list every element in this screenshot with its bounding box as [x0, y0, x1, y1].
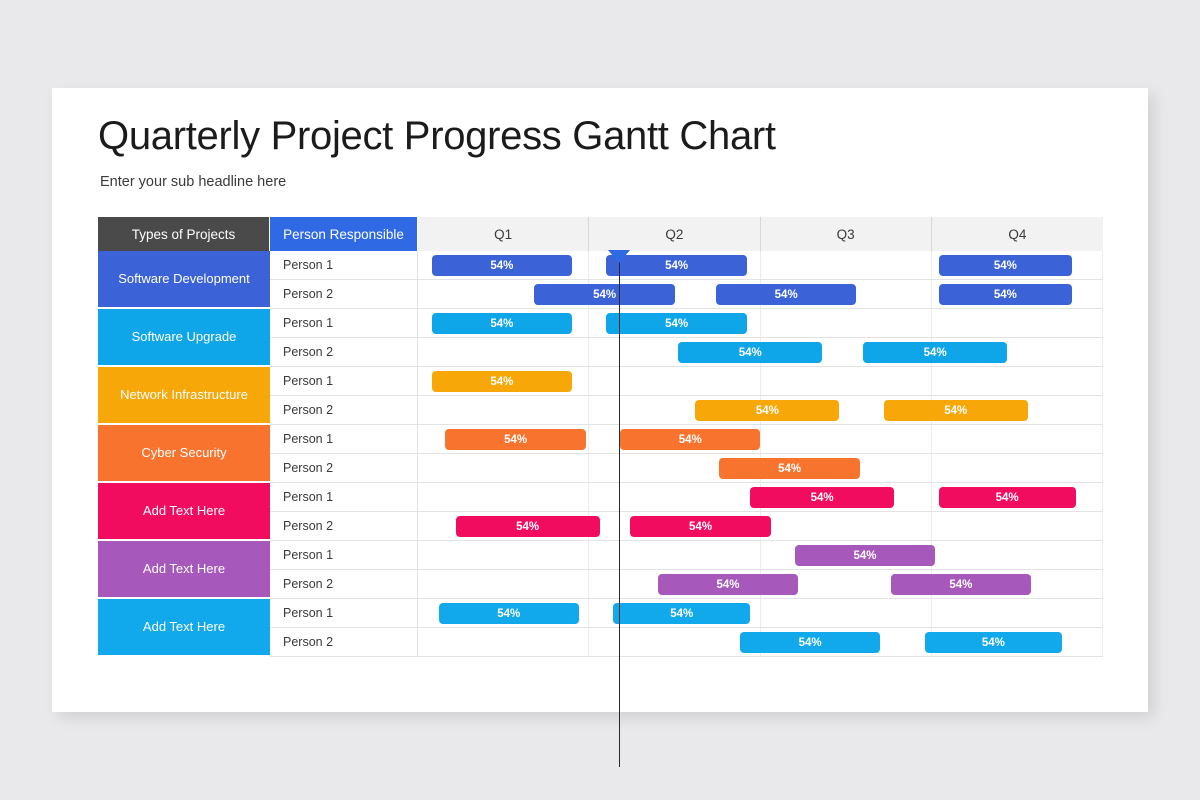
quarter-cell-q1: [418, 628, 589, 656]
person-responsible-cell[interactable]: Person 1: [270, 425, 418, 453]
today-marker-line: [619, 251, 620, 767]
gantt-bar[interactable]: 54%: [891, 574, 1031, 595]
slide-card: Quarterly Project Progress Gantt Chart E…: [52, 88, 1148, 712]
gantt-track: 54%54%: [418, 309, 1103, 337]
gantt-track: 54%54%: [418, 599, 1103, 627]
quarter-cell-q1: [418, 454, 589, 482]
gantt-group-rows: Person 154%Person 254%54%: [270, 367, 1103, 425]
gantt-group: Software DevelopmentPerson 154%54%54%Per…: [98, 251, 1103, 309]
quarter-cell-q1: [418, 541, 589, 569]
gantt-bar[interactable]: 54%: [740, 632, 880, 653]
table-row: Person 154%54%: [270, 483, 1103, 512]
gantt-bar[interactable]: 54%: [795, 545, 935, 566]
gantt-group-rows: Person 154%54%Person 254%54%: [270, 309, 1103, 367]
gantt-group-rows: Person 154%54%Person 254%: [270, 425, 1103, 483]
gantt-bar[interactable]: 54%: [613, 603, 750, 624]
quarter-cell-q4: [932, 541, 1103, 569]
gantt-bar[interactable]: 54%: [620, 429, 760, 450]
gantt-track: 54%54%: [418, 425, 1103, 453]
quarter-cell-q1: [418, 396, 589, 424]
gantt-body: Software DevelopmentPerson 154%54%54%Per…: [98, 251, 1103, 657]
gantt-track: 54%: [418, 454, 1103, 482]
gantt-bar[interactable]: 54%: [716, 284, 856, 305]
gantt-bar[interactable]: 54%: [695, 400, 839, 421]
person-responsible-cell[interactable]: Person 1: [270, 367, 418, 395]
table-header-row: Types of Projects Person Responsible Q1 …: [98, 217, 1103, 251]
quarter-cell-q4: [932, 512, 1103, 540]
gantt-bar[interactable]: 54%: [439, 603, 579, 624]
gantt-track: 54%54%: [418, 338, 1103, 366]
person-responsible-cell[interactable]: Person 1: [270, 251, 418, 279]
quarter-cell-q3: [761, 425, 932, 453]
table-row: Person 254%: [270, 454, 1103, 483]
header-person-responsible: Person Responsible: [270, 217, 418, 251]
header-quarter-q3: Q3: [761, 217, 932, 251]
quarter-cell-q1: [418, 338, 589, 366]
gantt-group-rows: Person 154%54%Person 254%54%: [270, 483, 1103, 541]
person-responsible-cell[interactable]: Person 2: [270, 396, 418, 424]
gantt-bar[interactable]: 54%: [445, 429, 585, 450]
table-row: Person 254%54%: [270, 570, 1103, 599]
table-row: Person 154%: [270, 367, 1103, 396]
gantt-bar[interactable]: 54%: [658, 574, 798, 595]
gantt-track: 54%: [418, 367, 1103, 395]
gantt-group-rows: Person 154%54%54%Person 254%54%54%: [270, 251, 1103, 309]
project-category-label[interactable]: Software Upgrade: [98, 309, 270, 365]
table-row: Person 154%: [270, 541, 1103, 570]
gantt-bar[interactable]: 54%: [432, 313, 572, 334]
person-responsible-cell[interactable]: Person 2: [270, 570, 418, 598]
person-responsible-cell[interactable]: Person 1: [270, 483, 418, 511]
quarter-cell-q2: [589, 628, 760, 656]
table-row: Person 254%54%: [270, 628, 1103, 657]
project-category-label[interactable]: Software Development: [98, 251, 270, 307]
gantt-group: Add Text HerePerson 154%Person 254%54%: [98, 541, 1103, 599]
gantt-bar[interactable]: 54%: [750, 487, 894, 508]
quarter-cell-q4: [932, 367, 1103, 395]
project-category-label[interactable]: Add Text Here: [98, 599, 270, 655]
quarter-cell-q3: [761, 367, 932, 395]
person-responsible-cell[interactable]: Person 1: [270, 599, 418, 627]
quarter-cell-q4: [932, 309, 1103, 337]
page-subtitle: Enter your sub headline here: [100, 174, 286, 190]
gantt-bar[interactable]: 54%: [884, 400, 1028, 421]
gantt-bar[interactable]: 54%: [534, 284, 674, 305]
gantt-track: 54%54%54%: [418, 251, 1103, 279]
gantt-bar[interactable]: 54%: [456, 516, 600, 537]
quarter-cell-q3: [761, 599, 932, 627]
gantt-track: 54%54%54%: [418, 280, 1103, 308]
quarter-cell-q2: [589, 367, 760, 395]
person-responsible-cell[interactable]: Person 2: [270, 338, 418, 366]
project-category-label[interactable]: Network Infrastructure: [98, 367, 270, 423]
project-category-label[interactable]: Add Text Here: [98, 483, 270, 539]
gantt-bar[interactable]: 54%: [432, 371, 572, 392]
gantt-track: 54%54%: [418, 512, 1103, 540]
gantt-bar[interactable]: 54%: [630, 516, 770, 537]
page-title: Quarterly Project Progress Gantt Chart: [98, 114, 776, 159]
gantt-bar[interactable]: 54%: [939, 284, 1073, 305]
quarter-cell-q4: [932, 425, 1103, 453]
quarter-cell-q4: [932, 454, 1103, 482]
gantt-bar[interactable]: 54%: [606, 313, 746, 334]
person-responsible-cell[interactable]: Person 2: [270, 628, 418, 656]
table-row: Person 254%54%: [270, 338, 1103, 367]
header-types-of-projects: Types of Projects: [98, 217, 270, 251]
table-row: Person 154%54%: [270, 309, 1103, 338]
gantt-track: 54%54%: [418, 483, 1103, 511]
table-row: Person 254%54%: [270, 512, 1103, 541]
gantt-bar[interactable]: 54%: [719, 458, 859, 479]
project-category-label[interactable]: Cyber Security: [98, 425, 270, 481]
gantt-bar[interactable]: 54%: [939, 487, 1076, 508]
gantt-group-rows: Person 154%Person 254%54%: [270, 541, 1103, 599]
table-row: Person 154%54%: [270, 425, 1103, 454]
person-responsible-cell[interactable]: Person 1: [270, 309, 418, 337]
table-row: Person 254%54%54%: [270, 280, 1103, 309]
gantt-group: Software UpgradePerson 154%54%Person 254…: [98, 309, 1103, 367]
gantt-track: 54%54%: [418, 628, 1103, 656]
person-responsible-cell[interactable]: Person 1: [270, 541, 418, 569]
quarter-cell-q4: [932, 599, 1103, 627]
person-responsible-cell[interactable]: Person 2: [270, 454, 418, 482]
gantt-track: 54%: [418, 541, 1103, 569]
person-responsible-cell[interactable]: Person 2: [270, 280, 418, 308]
table-row: Person 254%54%: [270, 396, 1103, 425]
person-responsible-cell[interactable]: Person 2: [270, 512, 418, 540]
project-category-label[interactable]: Add Text Here: [98, 541, 270, 597]
gantt-group: Cyber SecurityPerson 154%54%Person 254%: [98, 425, 1103, 483]
header-quarter-q2: Q2: [589, 217, 760, 251]
gantt-track: 54%54%: [418, 396, 1103, 424]
gantt-group-rows: Person 154%54%Person 254%54%: [270, 599, 1103, 657]
gantt-chart: Types of Projects Person Responsible Q1 …: [98, 217, 1103, 657]
quarter-cell-q3: [761, 512, 932, 540]
table-row: Person 154%54%54%: [270, 251, 1103, 280]
quarter-cell-q2: [589, 483, 760, 511]
gantt-bar[interactable]: 54%: [678, 342, 822, 363]
gantt-bar[interactable]: 54%: [925, 632, 1062, 653]
quarter-cell-q1: [418, 570, 589, 598]
gantt-group: Add Text HerePerson 154%54%Person 254%54…: [98, 483, 1103, 541]
quarter-cell-q1: [418, 483, 589, 511]
gantt-track: 54%54%: [418, 570, 1103, 598]
header-quarter-q1: Q1: [418, 217, 589, 251]
gantt-bar[interactable]: 54%: [432, 255, 572, 276]
header-quarter-q4: Q4: [932, 217, 1103, 251]
table-row: Person 154%54%: [270, 599, 1103, 628]
gantt-bar[interactable]: 54%: [939, 255, 1073, 276]
quarter-cell-q3: [761, 251, 932, 279]
quarter-cell-q2: [589, 541, 760, 569]
gantt-bar[interactable]: 54%: [863, 342, 1007, 363]
gantt-group: Add Text HerePerson 154%54%Person 254%54…: [98, 599, 1103, 657]
gantt-group: Network InfrastructurePerson 154%Person …: [98, 367, 1103, 425]
quarter-cell-q3: [761, 309, 932, 337]
